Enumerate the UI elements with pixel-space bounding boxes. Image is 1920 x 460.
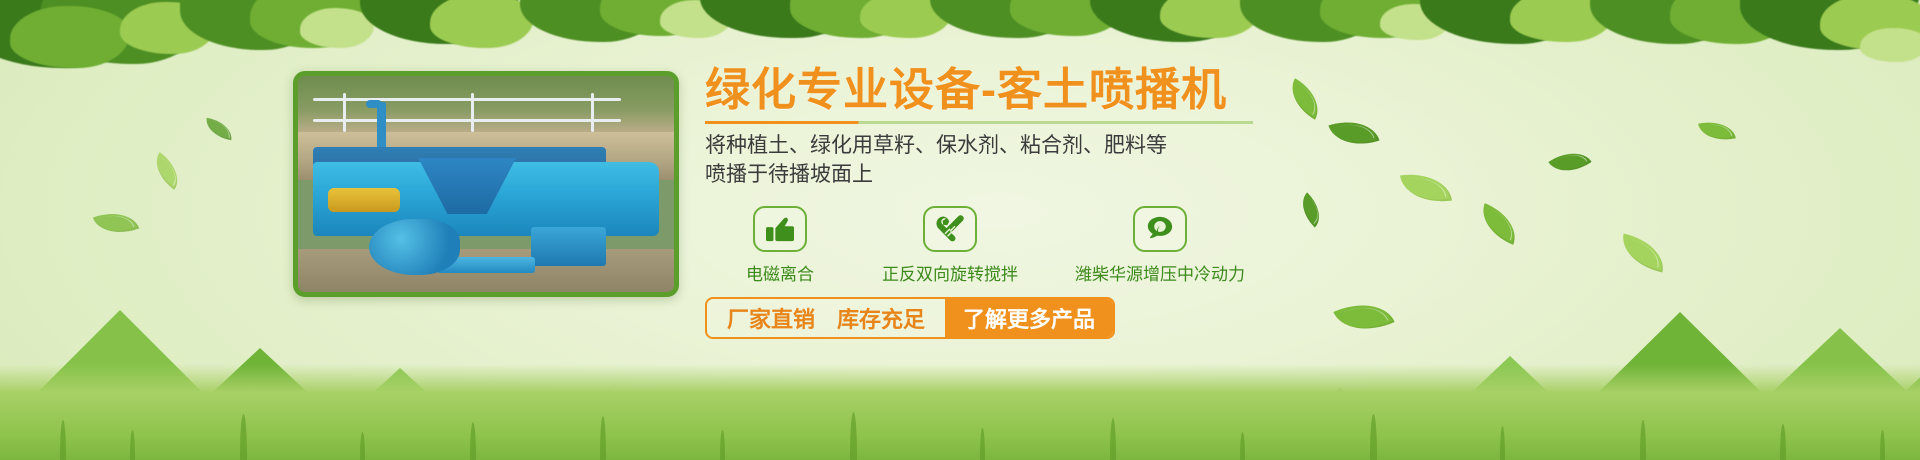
cta-tag-in-stock: 库存充足 <box>837 302 925 334</box>
feature-item-electromagnetic-clutch: 电磁离合 <box>705 206 855 285</box>
banner-content: 绿化专业设备-客土喷播机 将种植土、绿化用草籽、保水剂、粘合剂、肥料等 喷播于待… <box>705 66 1465 339</box>
cta-tag-factory-direct: 厂家直销 <box>727 302 815 334</box>
product-photo <box>293 71 679 297</box>
floating-leaf <box>1698 117 1736 146</box>
thumbs-up-icon-box <box>753 206 807 252</box>
banner-headline: 绿化专业设备-客土喷播机 <box>705 66 1465 115</box>
engine-leaf-icon <box>1144 215 1176 243</box>
floating-leaf <box>1617 234 1668 273</box>
feature-label: 潍柴华源增压中冷动力 <box>1075 260 1245 285</box>
feature-label: 电磁离合 <box>746 260 814 285</box>
engine-leaf-icon-box <box>1133 206 1187 252</box>
tools-wrench-screwdriver-icon <box>934 214 966 244</box>
floating-leaf <box>204 118 235 141</box>
promotional-banner: 绿化专业设备-客土喷播机 将种植土、绿化用草籽、保水剂、粘合剂、肥料等 喷播于待… <box>0 0 1920 460</box>
floating-leaf <box>147 152 187 190</box>
tools-wrench-screwdriver-icon-box <box>923 206 977 252</box>
feature-list: 电磁离合 正反双向旋转搅拌 <box>705 206 1465 285</box>
floating-leaf <box>1548 142 1591 182</box>
thumbs-up-icon <box>765 215 795 243</box>
subtitle-line-1: 将种植土、绿化用草籽、保水剂、粘合剂、肥料等 <box>705 132 1465 161</box>
cta-bar: 厂家直销 库存充足 了解更多产品 <box>705 297 1115 339</box>
product-photo-image <box>298 76 674 292</box>
banner-subtitle: 将种植土、绿化用草籽、保水剂、粘合剂、肥料等 喷播于待播坡面上 <box>705 132 1465 190</box>
feature-label: 正反双向旋转搅拌 <box>882 260 1018 285</box>
headline-divider <box>705 121 1253 124</box>
feature-item-bidirectional-mixing: 正反双向旋转搅拌 <box>855 206 1045 285</box>
floating-leaf <box>93 204 139 242</box>
feature-item-weichai-power: 潍柴华源增压中冷动力 <box>1045 206 1275 285</box>
cta-tags: 厂家直销 库存充足 <box>707 299 945 337</box>
learn-more-button[interactable]: 了解更多产品 <box>945 299 1113 337</box>
floating-leaf <box>1474 203 1523 245</box>
grass-strip <box>0 364 1920 460</box>
subtitle-line-2: 喷播于待播坡面上 <box>705 161 1465 190</box>
